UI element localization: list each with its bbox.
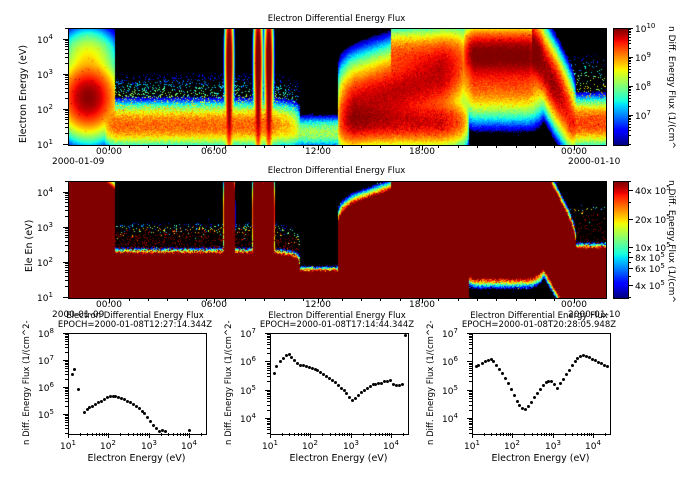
tick-mark xyxy=(469,424,473,425)
tick-mark xyxy=(187,433,188,436)
tick-mark xyxy=(577,433,578,436)
tick-mark xyxy=(65,44,69,45)
tick-mark xyxy=(63,109,69,110)
tick-mark xyxy=(628,31,631,32)
tick-mark xyxy=(137,433,138,436)
spectrum-3-ylabel: n Diff. Energy Flux (1/(cm^2- xyxy=(426,320,436,445)
tick-mark xyxy=(516,298,517,301)
axis-tick-label: 103 xyxy=(37,68,53,81)
data-point xyxy=(510,388,513,391)
tick-mark xyxy=(65,235,69,236)
tick-mark xyxy=(389,433,390,436)
data-point xyxy=(348,396,351,399)
data-point xyxy=(273,372,276,375)
data-point xyxy=(83,411,86,414)
tick-mark xyxy=(267,390,271,391)
tick-mark xyxy=(628,118,631,119)
tick-mark xyxy=(267,418,271,419)
tick-mark xyxy=(628,57,631,58)
tick-mark xyxy=(628,202,631,203)
tick-mark xyxy=(65,79,69,80)
tick-mark xyxy=(65,199,69,200)
tick-mark xyxy=(574,145,575,148)
tick-mark xyxy=(63,39,69,40)
tick-mark xyxy=(370,433,371,436)
tick-mark xyxy=(363,433,364,436)
tick-mark xyxy=(65,428,69,429)
axis-tick-label: 18:00 xyxy=(406,300,438,310)
spectrum-2-plot-area[interactable] xyxy=(270,333,409,435)
data-point xyxy=(533,396,536,399)
axis-tick-label: 102 xyxy=(294,439,326,452)
data-point xyxy=(530,401,533,404)
tick-mark xyxy=(294,433,295,436)
data-point xyxy=(351,399,354,402)
tick-mark xyxy=(65,77,69,78)
tick-mark xyxy=(628,247,631,248)
tick-mark xyxy=(469,419,473,420)
tick-mark xyxy=(628,135,631,136)
tick-mark xyxy=(304,433,305,436)
axis-tick-label: 102 xyxy=(92,439,124,452)
tick-mark xyxy=(469,333,473,334)
spectrogram-top-title: Electron Differential Energy Flux xyxy=(68,14,605,24)
tick-mark xyxy=(469,353,473,354)
tick-mark xyxy=(65,53,69,54)
tick-mark xyxy=(65,398,69,399)
tick-mark xyxy=(102,433,103,436)
tick-mark xyxy=(65,42,69,43)
axis-tick-label: 4x 105 xyxy=(635,279,665,292)
tick-mark xyxy=(308,433,309,436)
data-point xyxy=(606,365,609,368)
tick-mark xyxy=(469,361,473,362)
tick-mark xyxy=(92,433,93,436)
tick-mark xyxy=(537,433,538,436)
tick-mark xyxy=(65,374,69,375)
tick-mark xyxy=(225,298,226,301)
data-point xyxy=(164,430,167,433)
axis-tick-label: 104 xyxy=(442,412,458,425)
tick-mark xyxy=(267,344,271,345)
axis-tick-label: 00:00 xyxy=(93,300,125,310)
tick-mark xyxy=(628,257,631,258)
tick-mark xyxy=(628,89,631,90)
data-point xyxy=(366,387,369,390)
tick-mark xyxy=(628,285,631,286)
tick-mark xyxy=(469,429,473,430)
tick-mark xyxy=(380,145,381,148)
tick-mark xyxy=(267,421,271,422)
tick-mark xyxy=(65,57,69,58)
tick-mark xyxy=(245,145,246,148)
data-point xyxy=(146,416,149,419)
tick-mark xyxy=(65,336,69,337)
tick-mark xyxy=(628,69,631,70)
axis-tick-label: 103 xyxy=(335,439,367,452)
data-point xyxy=(73,368,76,371)
tick-mark xyxy=(469,366,473,367)
tick-mark xyxy=(65,344,69,345)
tick-mark xyxy=(133,433,134,436)
tick-mark xyxy=(168,433,169,436)
tick-mark xyxy=(65,414,69,415)
tick-mark xyxy=(322,433,323,436)
tick-mark xyxy=(65,127,69,128)
data-point xyxy=(71,373,74,376)
tick-mark xyxy=(496,433,497,436)
tick-mark xyxy=(628,262,631,263)
tick-mark xyxy=(65,123,69,124)
spectrogram-top-cblabel: n Diff. Energy Flux (1/(cm^ xyxy=(666,26,676,149)
tick-mark xyxy=(267,373,271,374)
data-point xyxy=(354,397,357,400)
tick-mark xyxy=(65,341,69,342)
data-point xyxy=(536,392,539,395)
tick-mark xyxy=(535,298,536,301)
tick-mark xyxy=(628,115,631,116)
tick-mark xyxy=(63,297,69,298)
tick-mark xyxy=(264,298,265,301)
axis-tick-label: 104 xyxy=(577,439,609,452)
data-point xyxy=(152,424,155,427)
tick-mark xyxy=(167,298,168,301)
tick-mark xyxy=(628,119,631,120)
tick-mark xyxy=(120,433,121,436)
tick-mark xyxy=(335,433,336,436)
tick-mark xyxy=(628,116,631,117)
tick-mark xyxy=(65,98,69,99)
tick-mark xyxy=(581,433,582,436)
tick-mark xyxy=(591,433,592,436)
tick-mark xyxy=(128,433,129,436)
tick-mark xyxy=(63,144,69,145)
tick-mark xyxy=(65,391,69,392)
data-point xyxy=(149,420,152,423)
data-point xyxy=(507,382,510,385)
data-point xyxy=(275,365,278,368)
tick-mark xyxy=(267,393,271,394)
tick-mark xyxy=(65,237,69,238)
axis-tick-label: 102 xyxy=(496,439,528,452)
tick-mark xyxy=(65,417,69,418)
tick-mark xyxy=(628,252,631,253)
tick-mark xyxy=(129,298,130,301)
spectrum-2-xlabel: Electron Energy (eV) xyxy=(250,453,427,464)
data-point xyxy=(477,364,480,367)
tick-mark xyxy=(351,433,352,436)
tick-mark xyxy=(180,433,181,436)
tick-mark xyxy=(477,145,478,148)
tick-mark xyxy=(469,381,473,382)
tick-mark xyxy=(469,336,473,337)
tick-mark xyxy=(469,405,473,406)
spectrogram-mid-title: Electron Differential Energy Flux xyxy=(68,166,605,176)
axis-tick-label: 107 xyxy=(635,109,651,122)
axis-tick-label: 101 xyxy=(37,138,53,151)
tick-mark xyxy=(385,433,386,436)
tick-mark xyxy=(267,427,271,428)
tick-mark xyxy=(270,433,271,436)
axis-tick-label: 103 xyxy=(133,439,165,452)
tick-mark xyxy=(477,298,478,301)
data-point xyxy=(539,388,542,391)
axis-tick-label: 103 xyxy=(537,439,569,452)
tick-mark xyxy=(65,270,69,271)
tick-mark xyxy=(65,425,69,426)
spectrum-3-epoch: EPOCH=2000-01-08T20:28:05.948Z xyxy=(424,320,654,330)
tick-mark xyxy=(628,87,631,88)
tick-mark xyxy=(532,433,533,436)
data-point xyxy=(559,382,562,385)
tick-mark xyxy=(628,40,631,41)
tick-mark xyxy=(185,433,186,436)
tick-mark xyxy=(544,433,545,436)
tick-mark xyxy=(267,370,271,371)
tick-mark xyxy=(306,433,307,436)
axis-tick-label: 106 xyxy=(38,381,54,394)
tick-mark xyxy=(267,398,271,399)
data-point xyxy=(492,360,495,363)
spectrogram-top-colorbar[interactable] xyxy=(613,28,629,146)
tick-mark xyxy=(65,210,69,211)
tick-mark xyxy=(225,145,226,148)
tick-mark xyxy=(267,376,271,377)
data-point xyxy=(481,362,484,365)
tick-mark xyxy=(65,352,69,353)
axis-tick-label: 108 xyxy=(635,80,651,93)
axis-tick-label: 107 xyxy=(240,327,256,340)
tick-mark xyxy=(65,216,69,217)
spectrogram-mid-plot-area[interactable] xyxy=(68,181,607,299)
tick-mark xyxy=(339,433,340,436)
tick-mark xyxy=(349,433,350,436)
tick-mark xyxy=(322,145,323,148)
tick-mark xyxy=(469,364,473,365)
tick-mark xyxy=(267,339,271,340)
tick-mark xyxy=(65,415,69,416)
spectrum-2-ylabel: n Diff. Energy Flux (1/(cm^2- xyxy=(224,320,234,445)
tick-mark xyxy=(65,393,69,394)
data-point xyxy=(553,383,556,386)
tick-mark xyxy=(541,433,542,436)
tick-mark xyxy=(628,29,631,30)
data-point xyxy=(337,384,340,387)
tick-mark xyxy=(65,49,69,50)
tick-mark xyxy=(267,334,271,335)
tick-mark xyxy=(554,298,555,301)
axis-tick-label: 101 xyxy=(254,439,286,452)
tick-mark xyxy=(65,388,69,389)
tick-mark xyxy=(584,433,585,436)
tick-mark xyxy=(375,433,376,436)
tick-mark xyxy=(65,230,69,231)
tick-mark xyxy=(65,84,69,85)
tick-mark xyxy=(65,181,69,182)
tick-mark xyxy=(65,280,69,281)
axis-tick-label: 109 xyxy=(635,51,651,64)
tick-mark xyxy=(267,419,271,420)
tick-mark xyxy=(206,298,207,301)
tick-mark xyxy=(65,361,69,362)
tick-mark xyxy=(65,265,69,266)
tick-mark xyxy=(503,433,504,436)
tick-mark xyxy=(65,110,69,111)
tick-mark xyxy=(65,114,69,115)
tick-mark xyxy=(419,298,420,301)
tick-mark xyxy=(65,117,69,118)
tick-mark xyxy=(65,82,69,83)
tick-mark xyxy=(106,433,107,436)
tick-mark xyxy=(109,298,110,301)
tick-mark xyxy=(65,420,69,421)
tick-mark xyxy=(65,197,69,198)
tick-mark xyxy=(65,245,69,246)
tick-mark xyxy=(65,347,69,348)
tick-mark xyxy=(65,133,69,134)
tick-mark xyxy=(628,297,631,298)
data-point xyxy=(363,389,366,392)
spectrogram-mid-colorbar[interactable] xyxy=(613,181,629,299)
tick-mark xyxy=(63,262,69,263)
tick-mark xyxy=(264,145,265,148)
spectrum-3-xlabel: Electron Energy (eV) xyxy=(452,453,629,464)
spectrogram-mid-colorbar-canvas xyxy=(614,182,628,298)
axis-tick-label: 104 xyxy=(375,439,407,452)
spectrogram-top-plot-area[interactable] xyxy=(68,28,607,146)
axis-tick-label: 107 xyxy=(442,327,458,340)
tick-mark xyxy=(565,433,566,436)
tick-mark xyxy=(108,433,109,436)
tick-mark xyxy=(546,433,547,436)
tick-mark xyxy=(161,433,162,436)
tick-mark xyxy=(508,433,509,436)
axis-tick-label: 101 xyxy=(456,439,488,452)
tick-mark xyxy=(347,433,348,436)
tick-mark xyxy=(65,119,69,120)
tick-mark xyxy=(298,433,299,436)
tick-mark xyxy=(516,145,517,148)
data-point xyxy=(568,369,571,372)
tick-mark xyxy=(472,433,473,436)
axis-tick-label: 06:00 xyxy=(198,300,230,310)
tick-mark xyxy=(267,424,271,425)
tick-mark xyxy=(65,337,69,338)
axis-tick-label: 108 xyxy=(38,327,54,340)
axis-tick-label: 06:00 xyxy=(198,147,230,157)
spectrum-1-xlabel: Electron Energy (eV) xyxy=(48,453,225,464)
tick-mark xyxy=(438,298,439,301)
tick-mark xyxy=(469,427,473,428)
tick-mark xyxy=(140,433,141,436)
axis-tick-label: 12:00 xyxy=(302,300,334,310)
tick-mark xyxy=(267,353,271,354)
spectrum-1-plot-area[interactable] xyxy=(68,333,207,435)
tick-mark xyxy=(65,88,69,89)
tick-mark xyxy=(458,298,459,301)
tick-mark xyxy=(469,390,473,391)
tick-mark xyxy=(469,394,473,395)
tick-mark xyxy=(201,433,202,436)
tick-mark xyxy=(267,381,271,382)
data-point xyxy=(360,391,363,394)
tick-mark xyxy=(342,145,343,148)
tick-mark xyxy=(267,391,271,392)
data-point xyxy=(571,364,574,367)
data-point xyxy=(524,408,527,411)
tick-mark xyxy=(65,418,69,419)
tick-mark xyxy=(142,433,143,436)
tick-mark xyxy=(96,433,97,436)
tick-mark xyxy=(65,333,69,334)
tick-mark xyxy=(469,401,473,402)
tick-mark xyxy=(469,376,473,377)
tick-mark xyxy=(628,86,631,87)
tick-mark xyxy=(189,433,190,436)
axis-tick-label: 18:00 xyxy=(406,147,438,157)
data-point xyxy=(527,405,530,408)
tick-mark xyxy=(65,360,69,361)
tick-mark xyxy=(284,298,285,301)
tick-mark xyxy=(65,232,69,233)
tick-mark xyxy=(342,298,343,301)
tick-mark xyxy=(267,361,271,362)
data-point xyxy=(501,372,504,375)
tick-mark xyxy=(380,298,381,301)
tick-mark xyxy=(628,181,631,182)
data-point xyxy=(404,334,407,337)
tick-mark xyxy=(65,28,69,29)
tick-mark xyxy=(65,267,69,268)
tick-mark xyxy=(484,433,485,436)
axis-tick-label: 105 xyxy=(38,408,54,421)
tick-mark xyxy=(469,337,473,338)
tick-mark xyxy=(469,373,473,374)
tick-mark xyxy=(469,368,473,369)
tick-mark xyxy=(145,433,146,436)
tick-mark xyxy=(322,298,323,301)
tick-mark xyxy=(344,433,345,436)
tick-mark xyxy=(267,333,271,334)
tick-mark xyxy=(65,339,69,340)
axis-tick-label: 105 xyxy=(442,384,458,397)
tick-mark xyxy=(65,272,69,273)
spectrogram-mid-canvas xyxy=(69,182,606,298)
tick-mark xyxy=(65,334,69,335)
tick-mark xyxy=(267,364,271,365)
tick-mark xyxy=(628,32,631,33)
tick-mark xyxy=(301,433,302,436)
tick-mark xyxy=(267,423,271,424)
data-point xyxy=(369,385,372,388)
tick-mark xyxy=(628,43,631,44)
spectrum-3-plot-area[interactable] xyxy=(472,333,611,435)
tick-mark xyxy=(65,422,69,423)
tick-mark xyxy=(342,433,343,436)
tick-mark xyxy=(267,405,271,406)
tick-mark xyxy=(361,298,362,301)
tick-mark xyxy=(400,145,401,148)
tick-mark xyxy=(469,418,473,419)
tick-mark xyxy=(628,106,631,107)
tick-mark xyxy=(469,398,473,399)
tick-mark xyxy=(267,401,271,402)
tick-mark xyxy=(628,101,631,102)
axis-tick-label: 101 xyxy=(37,291,53,304)
tick-mark xyxy=(267,337,271,338)
tick-mark xyxy=(310,433,311,436)
axis-tick-label: 102 xyxy=(37,256,53,269)
